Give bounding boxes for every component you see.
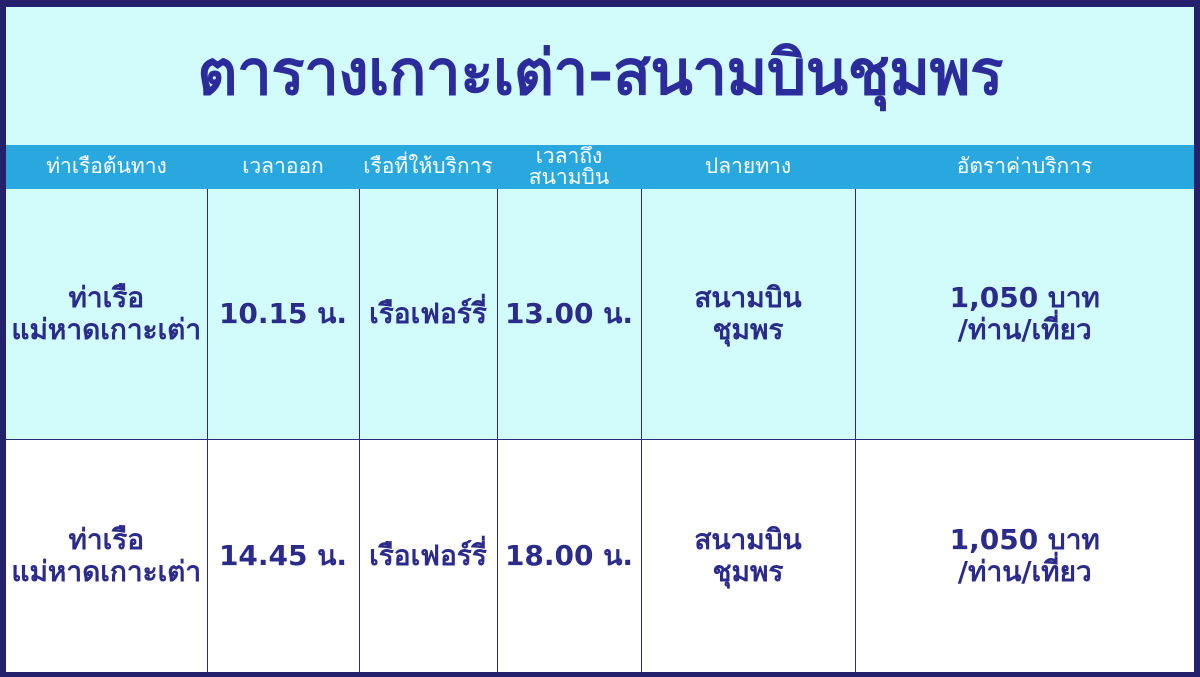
cell-fare: 1,050 บาท /ท่าน/เที่ยว xyxy=(855,440,1194,673)
cell-origin-line1: ท่าเรือ xyxy=(10,282,203,314)
cell-destination-line1: สนามบิน xyxy=(646,524,851,556)
table-row: ท่าเรือ แม่หาดเกาะเต่า 14.45 น. เรือเฟอร… xyxy=(6,440,1194,673)
column-header-origin: ท่าเรือต้นทาง xyxy=(6,145,207,189)
cell-origin: ท่าเรือ แม่หาดเกาะเต่า xyxy=(6,440,207,673)
cell-vessel: เรือเฟอร์รี่ xyxy=(359,440,497,673)
cell-fare: 1,050 บาท /ท่าน/เที่ยว xyxy=(855,189,1194,440)
schedule-page: ตารางเกาะเต่า-สนามบินชุมพร ท่าเรือต้นทาง xyxy=(0,0,1200,677)
cell-destination-line2: ชุมพร xyxy=(646,556,851,588)
column-header-departure-time-line1: เวลาออก xyxy=(211,156,355,177)
cell-destination-line1: สนามบิน xyxy=(646,282,851,314)
table-header: ท่าเรือต้นทาง เวลาออก เรือที่ให้บริการ เ… xyxy=(6,139,1194,189)
cell-arrival-time: 13.00 น. xyxy=(497,189,641,440)
column-header-destination: ปลายทาง xyxy=(641,145,855,189)
column-header-departure-time: เวลาออก xyxy=(207,145,359,189)
cell-destination-line2: ชุมพร xyxy=(646,314,851,346)
column-header-vessel-line1: เรือที่ให้บริการ xyxy=(363,156,493,177)
column-header-arrival-time-line1: เวลาถึง xyxy=(501,146,637,167)
table-row: ท่าเรือ แม่หาดเกาะเต่า 10.15 น. เรือเฟอร… xyxy=(6,189,1194,440)
cell-fare-line1: 1,050 บาท xyxy=(860,524,1191,556)
cell-vessel: เรือเฟอร์รี่ xyxy=(359,189,497,440)
page-title: ตารางเกาะเต่า-สนามบินชุมพร xyxy=(197,40,1003,105)
column-header-destination-line1: ปลายทาง xyxy=(645,156,851,177)
column-header-vessel: เรือที่ให้บริการ xyxy=(359,145,497,189)
cell-origin-line1: ท่าเรือ xyxy=(10,524,203,556)
cell-origin-line2: แม่หาดเกาะเต่า xyxy=(10,556,203,588)
cell-departure-time: 10.15 น. xyxy=(207,189,359,440)
header-row: ท่าเรือต้นทาง เวลาออก เรือที่ให้บริการ เ… xyxy=(6,145,1194,189)
column-header-fare: อัตราค่าบริการ xyxy=(855,145,1194,189)
title-banner: ตารางเกาะเต่า-สนามบินชุมพร xyxy=(6,7,1194,139)
table-body: ท่าเรือ แม่หาดเกาะเต่า 10.15 น. เรือเฟอร… xyxy=(6,189,1194,672)
column-header-arrival-time-line2: สนามบิน xyxy=(501,167,637,188)
cell-origin: ท่าเรือ แม่หาดเกาะเต่า xyxy=(6,189,207,440)
cell-destination: สนามบิน ชุมพร xyxy=(641,440,855,673)
cell-arrival-time: 18.00 น. xyxy=(497,440,641,673)
column-header-fare-line1: อัตราค่าบริการ xyxy=(859,156,1190,177)
cell-destination: สนามบิน ชุมพร xyxy=(641,189,855,440)
cell-fare-line2: /ท่าน/เที่ยว xyxy=(860,314,1191,346)
column-header-arrival-time: เวลาถึง สนามบิน xyxy=(497,145,641,189)
cell-departure-time: 14.45 น. xyxy=(207,440,359,673)
cell-fare-line2: /ท่าน/เที่ยว xyxy=(860,556,1191,588)
cell-origin-line2: แม่หาดเกาะเต่า xyxy=(10,314,203,346)
column-header-origin-line1: ท่าเรือต้นทาง xyxy=(10,156,203,177)
cell-fare-line1: 1,050 บาท xyxy=(860,282,1191,314)
ferry-schedule-table: ท่าเรือต้นทาง เวลาออก เรือที่ให้บริการ เ… xyxy=(6,139,1194,672)
